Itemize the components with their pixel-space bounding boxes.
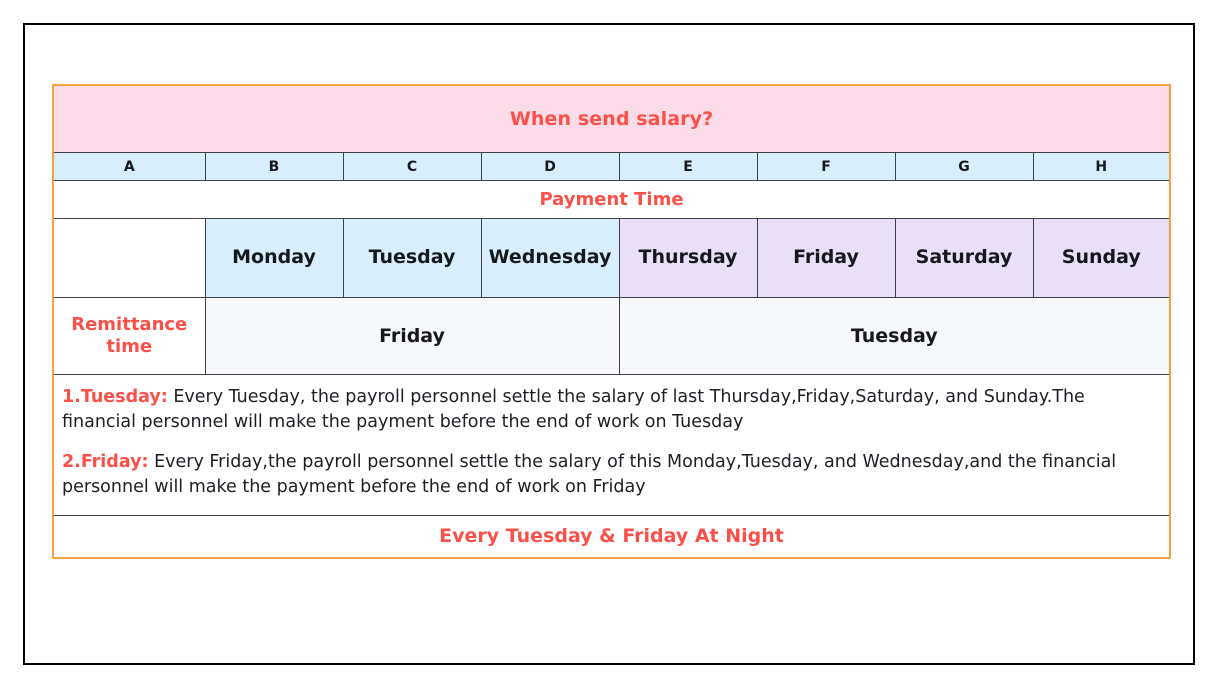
note-tuesday-body: Every Tuesday, the payroll personnel set…: [62, 387, 1085, 432]
remittance-time-label: Remittance time: [53, 298, 205, 375]
column-letter-g: G: [895, 153, 1033, 181]
footer-row: Every Tuesday & Friday At Night: [53, 515, 1170, 558]
remittance-row: Remittance time Friday Tuesday: [53, 298, 1170, 375]
weekday-cell-thursday: Thursday: [619, 219, 757, 298]
page-frame: When send salary? A B C D E F G H Paymen…: [23, 23, 1195, 665]
payment-time-row: Payment Time: [53, 181, 1170, 219]
column-letter-b: B: [205, 153, 343, 181]
weekday-row: Monday Tuesday Wednesday Thursday Friday…: [53, 219, 1170, 298]
note-friday: 2.Friday: Every Friday,the payroll perso…: [62, 450, 1161, 501]
column-letter-f: F: [757, 153, 895, 181]
note-tuesday-lead: 1.Tuesday:: [62, 387, 168, 407]
column-letter-d: D: [481, 153, 619, 181]
notes-cell: 1.Tuesday: Every Tuesday, the payroll pe…: [53, 375, 1170, 516]
weekday-cell-wednesday: Wednesday: [481, 219, 619, 298]
column-letter-h: H: [1033, 153, 1170, 181]
column-letter-e: E: [619, 153, 757, 181]
weekday-row-blank-cell: [53, 219, 205, 298]
notes-spacer: [62, 436, 1161, 450]
note-tuesday: 1.Tuesday: Every Tuesday, the payroll pe…: [62, 385, 1161, 436]
note-friday-body: Every Friday,the payroll personnel settl…: [62, 452, 1116, 497]
table-title-row: When send salary?: [53, 85, 1170, 153]
remittance-value-late-week: Tuesday: [619, 298, 1170, 375]
note-friday-lead: 2.Friday:: [62, 452, 149, 472]
column-letter-a: A: [53, 153, 205, 181]
remittance-value-early-week: Friday: [205, 298, 619, 375]
page-title: When send salary?: [53, 85, 1170, 153]
column-letter-row: A B C D E F G H: [53, 153, 1170, 181]
weekday-cell-saturday: Saturday: [895, 219, 1033, 298]
weekday-cell-friday: Friday: [757, 219, 895, 298]
weekday-cell-monday: Monday: [205, 219, 343, 298]
salary-schedule-table: When send salary? A B C D E F G H Paymen…: [52, 84, 1171, 559]
weekday-cell-sunday: Sunday: [1033, 219, 1170, 298]
column-letter-c: C: [343, 153, 481, 181]
weekday-cell-tuesday: Tuesday: [343, 219, 481, 298]
notes-row: 1.Tuesday: Every Tuesday, the payroll pe…: [53, 375, 1170, 516]
payment-time-label: Payment Time: [53, 181, 1170, 219]
footer-label: Every Tuesday & Friday At Night: [53, 515, 1170, 558]
